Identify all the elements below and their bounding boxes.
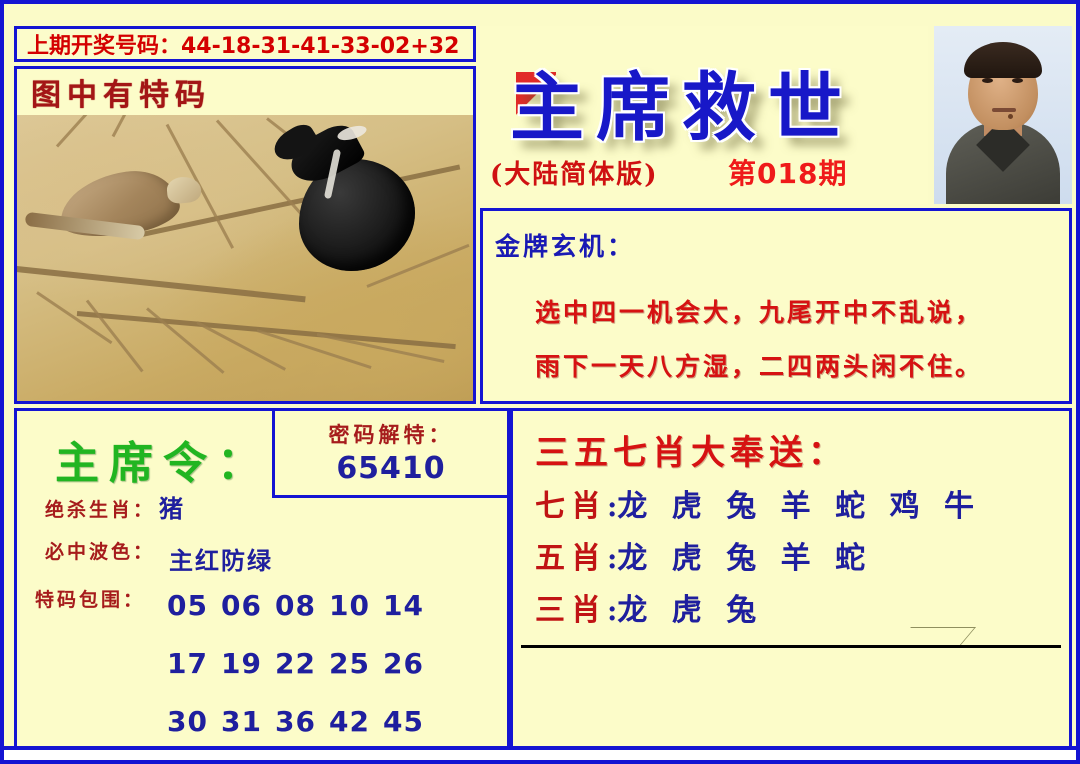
xuanji-line-2: 雨下一天八方湿，二四两头闲不住。	[535, 347, 983, 383]
edition-label: (大陆简体版)	[490, 154, 659, 191]
zodiac-row-value: 龙 虎 兔	[617, 593, 763, 628]
zodiac-row-sep: :	[607, 594, 617, 627]
wave-color-value: 主红防绿	[169, 541, 273, 576]
number-cell: 10	[329, 589, 383, 622]
grouse-photo	[17, 115, 473, 401]
number-cell: 05	[167, 589, 221, 622]
xuanji-line-1: 选中四一机会大，九尾开中不乱说，	[535, 293, 983, 329]
issue-number: 第018期	[728, 152, 847, 192]
xuanji-label: 金牌玄机：	[495, 227, 635, 263]
zodiac-row-label: 五肖	[535, 541, 607, 576]
number-row: 0506081014	[167, 589, 437, 622]
number-cell: 31	[221, 705, 275, 738]
number-cell: 25	[329, 647, 383, 680]
xuanji-panel: 金牌玄机： 选中四一机会大，九尾开中不乱说， 雨下一天八方湿，二四两头闲不住。	[480, 208, 1072, 404]
number-row: 1719222526	[167, 647, 437, 680]
number-row: 3031364245	[167, 705, 437, 738]
code-decode-label: 密码解特：	[275, 419, 507, 449]
zodiac-row-label: 三肖	[535, 593, 607, 628]
portrait-eye-left	[982, 78, 993, 83]
page-title: 主席救世	[510, 48, 854, 155]
portrait-eye-right	[1012, 78, 1023, 83]
number-cell: 17	[167, 647, 221, 680]
zodiac-row-sep: :	[607, 490, 617, 523]
portrait-mouth	[992, 108, 1016, 112]
decorative-mark	[895, 627, 976, 646]
code-decode-box: 密码解特： 65410	[272, 408, 510, 498]
zodiac-row-sep: :	[607, 542, 617, 575]
zodiac-panel-title: 三五七肖大奉送：	[535, 425, 847, 474]
code-decode-value: 65410	[275, 451, 507, 486]
divider-line	[521, 645, 1061, 648]
zodiac-row: 三肖:龙 虎 兔	[535, 585, 763, 629]
picture-caption: 图中有特码	[17, 69, 473, 115]
portrait-mole	[1008, 114, 1013, 119]
picture-caption-text: 图中有特码	[17, 70, 211, 114]
last-draw-banner: 上期开奖号码：44-18-31-41-33-02+32	[14, 26, 476, 62]
wave-color-label: 必中波色：	[45, 537, 155, 564]
number-cell: 36	[275, 705, 329, 738]
number-cell: 06	[221, 589, 275, 622]
zodiac-panel: 三五七肖大奉送： 七肖:龙 虎 兔 羊 蛇 鸡 牛 五肖:龙 虎 兔 羊 蛇 三…	[510, 408, 1072, 750]
zodiac-row: 五肖:龙 虎 兔 羊 蛇	[535, 533, 872, 577]
number-cell: 42	[329, 705, 383, 738]
number-cell: 45	[383, 705, 437, 738]
number-cell: 19	[221, 647, 275, 680]
number-cell: 30	[167, 705, 221, 738]
zodiac-row-value: 龙 虎 兔 羊 蛇	[617, 541, 872, 576]
chairman-portrait	[934, 26, 1072, 204]
number-cell: 08	[275, 589, 329, 622]
last-draw-numbers-text: 上期开奖号码：44-18-31-41-33-02+32	[17, 28, 459, 60]
number-cell: 14	[383, 589, 437, 622]
zodiac-row: 七肖:龙 虎 兔 羊 蛇 鸡 牛	[535, 481, 981, 525]
picture-panel: 图中有特码	[14, 66, 476, 404]
lottery-poster: 上期开奖号码：44-18-31-41-33-02+32 图中有特码	[0, 0, 1080, 764]
title-area: 主席救世 (大陆简体版) 第018期	[480, 26, 928, 204]
kill-zodiac-label: 绝杀生肖：	[45, 495, 155, 522]
number-cell: 22	[275, 647, 329, 680]
zodiac-row-value: 龙 虎 兔 羊 蛇 鸡 牛	[617, 489, 981, 524]
bottom-strip	[4, 746, 1076, 760]
kill-zodiac-value: 猪	[159, 489, 185, 524]
special-range-label: 特码包围：	[35, 585, 145, 612]
zodiac-row-label: 七肖	[535, 489, 607, 524]
zhuxiling-title: 主席令：	[55, 427, 271, 491]
number-cell: 26	[383, 647, 437, 680]
